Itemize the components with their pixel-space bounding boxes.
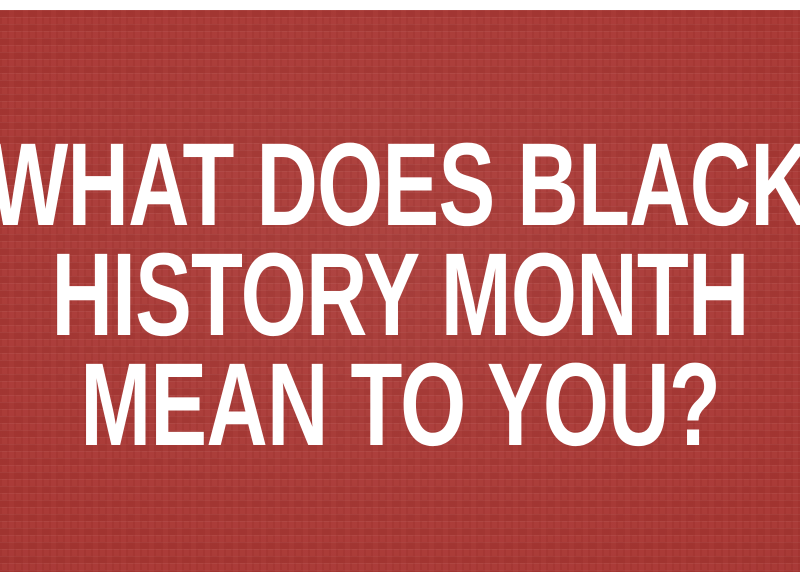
background-vignette	[0, 10, 800, 572]
top-white-strip	[0, 0, 800, 10]
poster-background	[0, 10, 800, 572]
poster-graphic: WHAT DOES BLACK HISTORY MONTH MEAN TO YO…	[0, 0, 800, 572]
